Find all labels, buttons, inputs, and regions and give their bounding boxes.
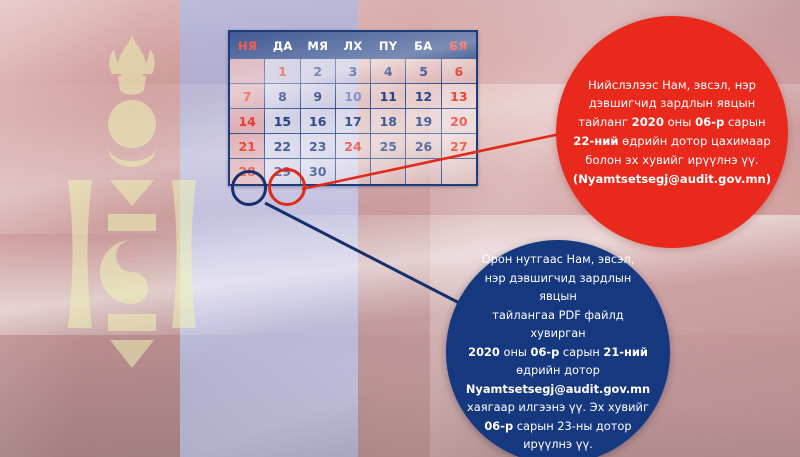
calendar-day-27[interactable]: 27 [442,134,476,159]
calendar-day-empty [371,159,406,184]
calendar-weekday-БЯ: БЯ [441,32,476,59]
calendar-day-22[interactable]: 22 [265,134,300,159]
capital-deadline-text: Нийслэлээс Нам, эвсэл, нэрдэвшигчид зард… [551,76,793,189]
red-circle-day-22 [268,168,306,206]
calendar-week-row: 123456 [230,59,476,84]
soyombo-symbol-icon [52,28,212,428]
calendar-week-row: 14151617181920 [230,109,476,134]
province-deadline-text: Орон нутгаас Нам, эвсэл,нэр дэвшигчид за… [446,250,670,453]
calendar-day-empty [230,59,265,84]
calendar-day-30[interactable]: 30 [301,159,336,184]
calendar-body[interactable]: 1234567891011121314151617181920212223242… [230,59,476,184]
calendar-week-row: 282930 [230,159,476,184]
calendar-day-empty [406,159,441,184]
calendar-weekday-НЯ: НЯ [230,32,265,59]
calendar-day-10[interactable]: 10 [336,84,371,109]
calendar-day-7[interactable]: 7 [230,84,265,109]
calendar-day-20[interactable]: 20 [442,109,476,134]
calendar-day-26[interactable]: 26 [406,134,441,159]
calendar-header-row: НЯДАМЯЛХПҮБАБЯ [230,32,476,59]
calendar-day-25[interactable]: 25 [371,134,406,159]
calendar-day-9[interactable]: 9 [301,84,336,109]
blue-circle-day-21 [231,170,267,206]
calendar-weekday-ПҮ: ПҮ [371,32,406,59]
calendar-day-12[interactable]: 12 [406,84,441,109]
calendar-weekday-ЛХ: ЛХ [335,32,370,59]
calendar-day-8[interactable]: 8 [265,84,300,109]
calendar-day-19[interactable]: 19 [406,109,441,134]
poster-canvas: НЯДАМЯЛХПҮБАБЯ 1234567891011121314151617… [0,0,800,457]
calendar-weekday-ДА: ДА [265,32,300,59]
calendar-weekday-БА: БА [406,32,441,59]
june-2020-calendar[interactable]: НЯДАМЯЛХПҮБАБЯ 1234567891011121314151617… [228,30,478,186]
calendar-day-3[interactable]: 3 [336,59,371,84]
calendar-day-6[interactable]: 6 [442,59,476,84]
province-deadline-callout[interactable]: Орон нутгаас Нам, эвсэл,нэр дэвшигчид за… [446,240,670,457]
calendar-day-21[interactable]: 21 [230,134,265,159]
calendar-day-24[interactable]: 24 [336,134,371,159]
calendar-day-2[interactable]: 2 [301,59,336,84]
calendar-day-13[interactable]: 13 [442,84,476,109]
calendar-day-17[interactable]: 17 [336,109,371,134]
calendar-week-row: 21222324252627 [230,134,476,159]
calendar-weekday-МЯ: МЯ [300,32,335,59]
calendar-day-16[interactable]: 16 [301,109,336,134]
calendar-week-row: 78910111213 [230,84,476,109]
calendar-day-18[interactable]: 18 [371,109,406,134]
calendar-day-4[interactable]: 4 [371,59,406,84]
calendar-day-5[interactable]: 5 [406,59,441,84]
calendar-day-15[interactable]: 15 [265,109,300,134]
calendar-day-14[interactable]: 14 [230,109,265,134]
calendar-day-11[interactable]: 11 [371,84,406,109]
calendar-day-23[interactable]: 23 [301,134,336,159]
calendar-day-empty [442,159,476,184]
calendar-day-empty [336,159,371,184]
capital-deadline-callout[interactable]: Нийслэлээс Нам, эвсэл, нэрдэвшигчид зард… [556,16,788,248]
calendar-day-1[interactable]: 1 [265,59,300,84]
